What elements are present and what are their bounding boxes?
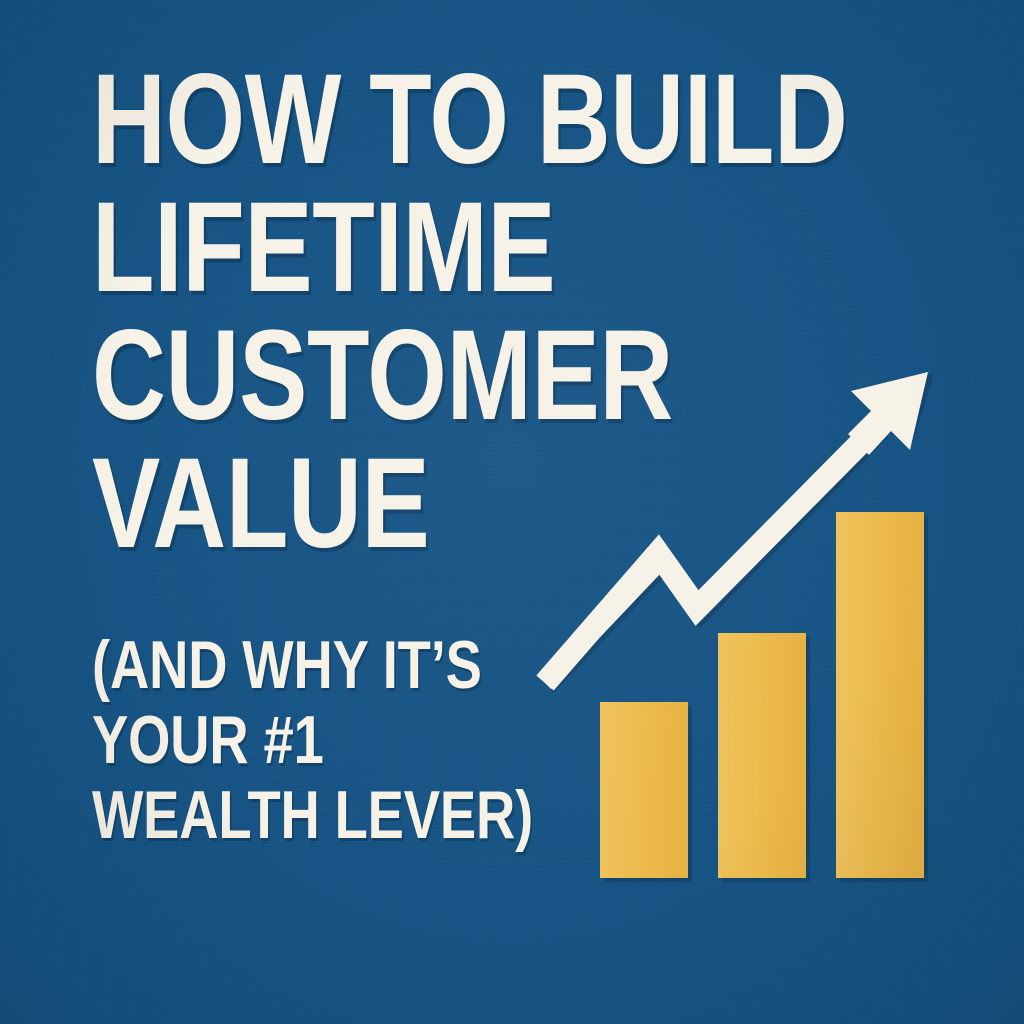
bar-2: [718, 633, 806, 878]
subhead-line-3: WEALTH LEVER): [92, 778, 540, 853]
page-subtitle: (AND WHY IT’S YOUR #1 WEALTH LEVER): [92, 628, 652, 853]
headline-line-1: HOW TO BUILD: [92, 56, 700, 184]
poster-canvas: HOW TO BUILD LIFETIME CUSTOMER VALUE (AN…: [0, 0, 1024, 1024]
subhead-line-2: YOUR #1: [92, 703, 540, 778]
page-title: HOW TO BUILD LIFETIME CUSTOMER VALUE: [92, 56, 852, 568]
headline-line-4: VALUE: [92, 440, 700, 568]
headline-line-3: CUSTOMER: [92, 312, 700, 440]
subhead-line-1: (AND WHY IT’S: [92, 628, 540, 703]
headline-line-2: LIFETIME: [92, 184, 700, 312]
